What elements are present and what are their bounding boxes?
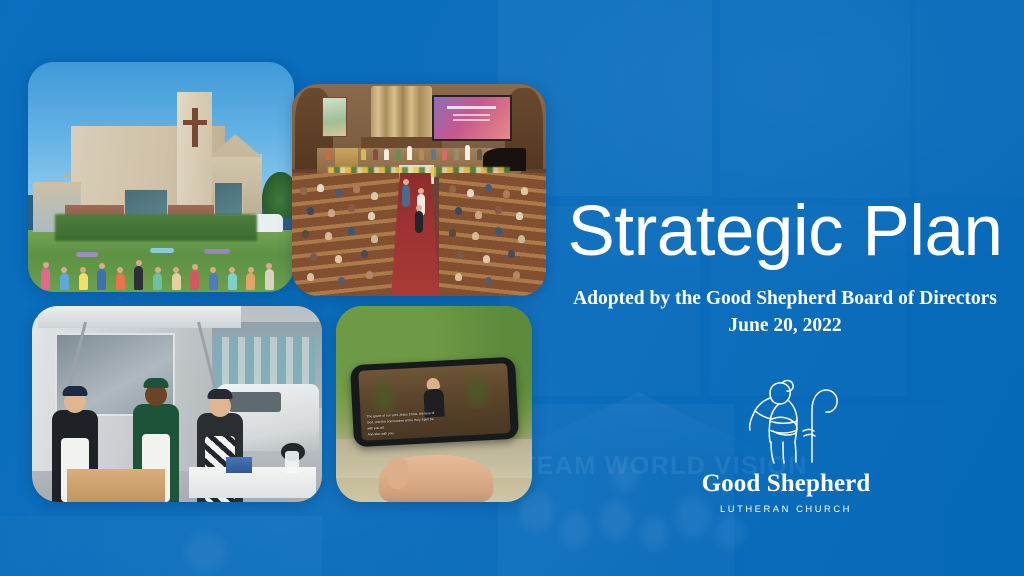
pipe-organ <box>371 86 432 141</box>
volunteer-cap <box>143 378 168 388</box>
truck-awning <box>38 306 241 328</box>
wall-banner <box>322 97 347 137</box>
logo-name: Good Shepherd <box>700 470 872 498</box>
worship-photo-content <box>292 84 546 296</box>
cross-icon-crossbar <box>183 120 207 125</box>
phone-screen: The grace of our Lord Jesus Christ, the … <box>358 363 510 441</box>
hand-holding-phone <box>379 455 493 502</box>
volunteer-cap <box>62 386 87 396</box>
logo-subtitle: LUTHERAN CHURCH <box>700 503 872 514</box>
photo-phone-livestream: The grace of our Lord Jesus Christ, the … <box>336 306 532 502</box>
shepherd-with-staff-icon <box>700 374 872 470</box>
volunteers-photo-content <box>32 306 322 502</box>
children-group <box>28 216 294 292</box>
church-window <box>214 182 243 216</box>
supply-box <box>226 457 252 473</box>
photo-food-truck-volunteers <box>32 306 322 502</box>
projection-screen <box>432 95 512 141</box>
cross-icon <box>192 108 198 147</box>
phone-photo-content: The grace of our Lord Jesus Christ, the … <box>336 306 532 502</box>
church-photo-content <box>28 62 294 292</box>
photo-sanctuary-worship <box>292 84 546 296</box>
people-walking-aisle <box>394 182 440 237</box>
logo-block: Good Shepherd LUTHERAN CHURCH <box>700 374 872 514</box>
title-slide: TEAM WORLD VISION <box>0 0 1024 576</box>
photo-church-exterior <box>28 62 294 292</box>
page-title: Strategic Plan <box>560 196 1010 268</box>
sanitizer-bottle <box>285 451 299 473</box>
title-subtitle-adoption: Adopted by the Good Shepherd Board of Di… <box>560 288 1010 310</box>
smartphone: The grace of our Lord Jesus Christ, the … <box>350 357 519 448</box>
title-block: Strategic Plan Adopted by the Good Sheph… <box>560 196 1010 337</box>
volunteer-cap <box>208 389 233 399</box>
plant-right <box>459 368 494 409</box>
plant-left <box>367 373 399 414</box>
tree <box>262 172 294 218</box>
title-subtitle-date: June 20, 2022 <box>560 315 1010 337</box>
cardboard-box <box>67 469 166 502</box>
